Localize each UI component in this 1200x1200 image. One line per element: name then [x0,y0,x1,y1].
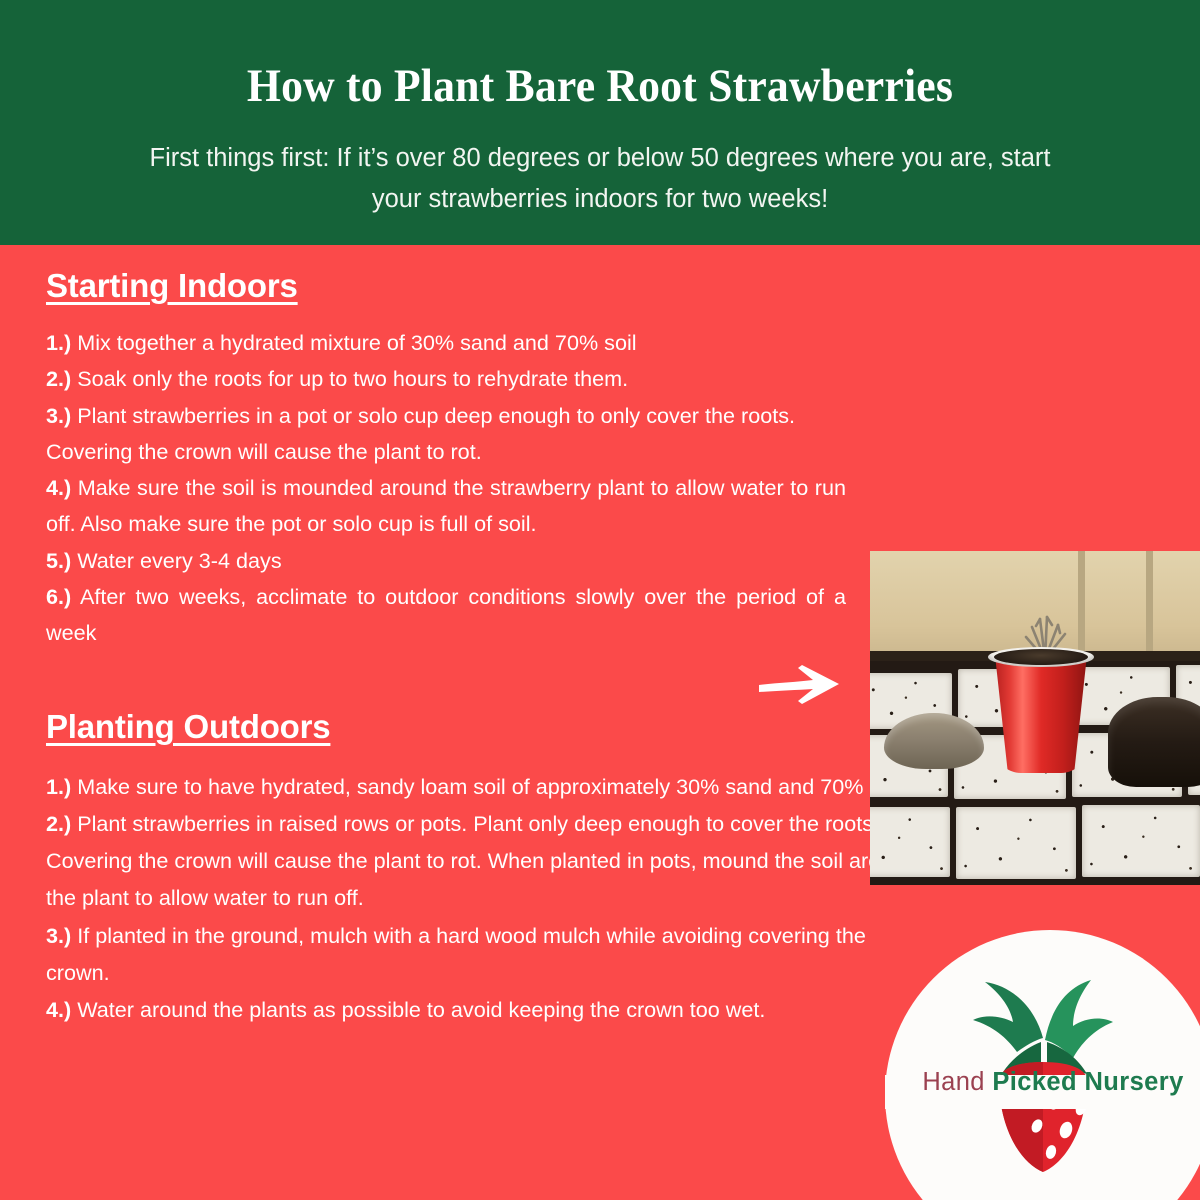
infographic-poster: How to Plant Bare Root Strawberries Firs… [0,0,1200,1200]
step-text: Water every 3-4 days [77,548,281,573]
step-text: Make sure the soil is mounded around the… [46,475,846,536]
list-item: 4.) Water around the plants as possible … [46,991,931,1028]
arrow-right-icon [757,663,841,707]
section-heading-planting-outdoors: Planting Outdoors [46,708,931,746]
list-item: 4.) Make sure the soil is mounded around… [46,470,846,543]
section-planting-outdoors: Planting Outdoors 1.) Make sure to have … [46,708,931,1028]
step-number: 3.) [46,923,71,948]
step-number: 2.) [46,811,71,836]
step-number: 4.) [46,475,71,500]
step-text: Water around the plants as possible to a… [77,997,765,1022]
step-number: 4.) [46,997,71,1022]
photo-wall-seam [1078,551,1085,658]
photo-tile [1082,805,1200,877]
photo-wall-seam [1146,551,1153,658]
step-text: Make sure to have hydrated, sandy loam s… [77,774,908,799]
brand-wordmark: Hand Picked Nursery [913,1068,1193,1097]
header-subtitle: First things first: If it’s over 80 degr… [130,138,1070,221]
list-item: 5.) Water every 3-4 days [46,543,846,579]
brand-logo[interactable]: Hand Picked Nursery [885,930,1200,1200]
step-text: Soak only the roots for up to two hours … [77,366,628,391]
planting-outdoors-steps: 1.) Make sure to have hydrated, sandy lo… [46,768,931,1028]
photo-bare-root-in-solo-cup [870,551,1200,885]
step-text: Plant strawberries in a pot or solo cup … [46,403,795,464]
section-starting-indoors: Starting Indoors 1.) Mix together a hydr… [46,267,846,651]
step-number: 2.) [46,366,71,391]
step-text: Plant strawberries in raised rows or pot… [46,811,916,910]
list-item: 1.) Make sure to have hydrated, sandy lo… [46,768,931,805]
list-item: 3.) Plant strawberries in a pot or solo … [46,398,846,471]
starting-indoors-steps: 1.) Mix together a hydrated mixture of 3… [46,325,846,651]
photo-tile [956,807,1076,879]
step-text: After two weeks, acclimate to outdoor co… [46,584,846,645]
step-number: 1.) [46,774,71,799]
page-title: How to Plant Bare Root Strawberries [42,0,1158,110]
section-heading-starting-indoors: Starting Indoors [46,267,846,305]
list-item: 2.) Plant strawberries in raised rows or… [46,805,931,916]
header-band: How to Plant Bare Root Strawberries Firs… [0,0,1200,245]
photo-red-solo-cup [995,655,1087,773]
step-text: Mix together a hydrated mixture of 30% s… [77,330,636,355]
step-text: If planted in the ground, mulch with a h… [46,923,866,985]
list-item: 3.) If planted in the ground, mulch with… [46,917,931,991]
step-number: 1.) [46,330,71,355]
photo-cup-soil [994,649,1088,665]
step-number: 5.) [46,548,71,573]
list-item: 6.) After two weeks, acclimate to outdoo… [46,579,846,652]
brand-word-picked-nursery: Picked Nursery [992,1068,1183,1096]
photo-tile [870,807,950,877]
list-item: 2.) Soak only the roots for up to two ho… [46,361,846,397]
strawberry-icon [885,930,1200,1200]
step-number: 6.) [46,584,71,609]
photo-soil-mound [1108,697,1200,787]
brand-word-hand: Hand [922,1068,985,1096]
step-number: 3.) [46,403,71,428]
list-item: 1.) Mix together a hydrated mixture of 3… [46,325,846,361]
